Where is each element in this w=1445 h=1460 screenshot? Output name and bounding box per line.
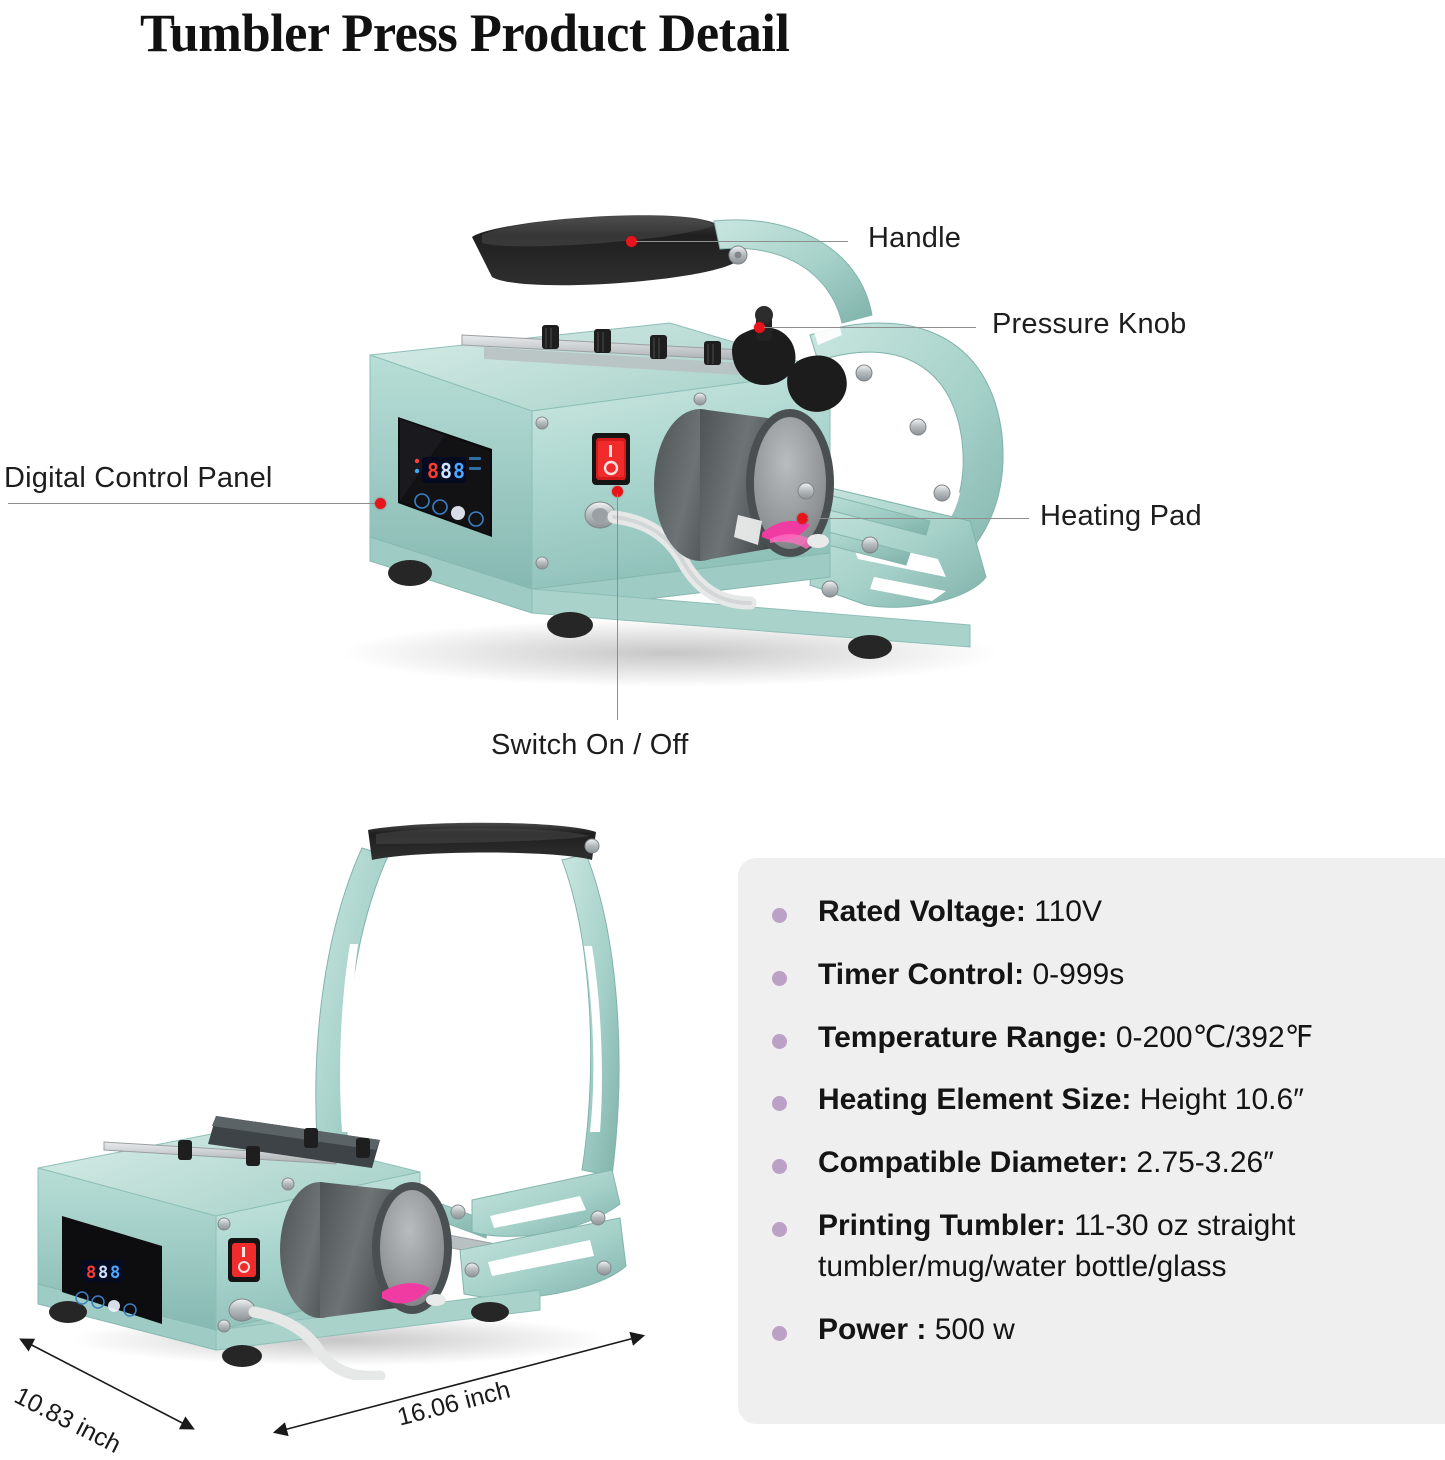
tumbler-press-open-illustration: 8 8 8 xyxy=(20,820,680,1380)
callout-line-digital-panel xyxy=(8,503,378,504)
callout-label-pressure-knob: Pressure Knob xyxy=(992,308,1186,341)
callout-label-heating-pad: Heating Pad xyxy=(1040,500,1202,533)
tumbler-press-closed-illustration: 8 8 8 xyxy=(270,185,1060,695)
spec-value: 0-999s xyxy=(1032,958,1124,991)
specifications-panel: Rated Voltage: 110V Timer Control: 0-999… xyxy=(738,858,1445,1424)
display-digit-2: 8 xyxy=(453,459,465,483)
callout-label-switch: Switch On / Off xyxy=(491,729,688,762)
callout-line-pressure-knob xyxy=(764,327,976,328)
spec-value: 500 w xyxy=(935,1313,1015,1346)
callout-anchor-digital-panel xyxy=(375,498,386,509)
svg-text:8: 8 xyxy=(110,1263,120,1283)
callout-line-heating-pad xyxy=(807,518,1029,519)
display-digit-red: 8 xyxy=(427,459,439,483)
spec-item-rated-voltage: Rated Voltage: 110V xyxy=(772,892,1431,933)
spec-key: Timer Control: xyxy=(818,958,1024,991)
bullet-icon xyxy=(772,1096,787,1111)
spec-key: Temperature Range: xyxy=(818,1021,1108,1054)
page-title: Tumbler Press Product Detail xyxy=(140,2,789,64)
spec-key: Rated Voltage: xyxy=(818,895,1026,928)
spec-key: Compatible Diameter: xyxy=(818,1146,1128,1179)
spec-value: 110V xyxy=(1034,895,1102,928)
spec-value: Height 10.6″ xyxy=(1140,1083,1304,1116)
spec-key: Printing Tumbler: xyxy=(818,1209,1066,1242)
callout-label-digital-panel: Digital Control Panel xyxy=(4,462,273,495)
spec-item-compatible-diameter: Compatible Diameter: 2.75-3.26″ xyxy=(772,1143,1431,1184)
callout-line-switch xyxy=(617,494,618,720)
svg-text:8: 8 xyxy=(86,1263,96,1283)
bullet-icon xyxy=(772,1222,787,1237)
product-detail-page: Tumbler Press Product Detail xyxy=(0,0,1445,1446)
display-digit-1: 8 xyxy=(440,459,452,483)
spec-item-power: Power : 500 w xyxy=(772,1310,1431,1351)
bullet-icon xyxy=(772,1159,787,1174)
svg-text:8: 8 xyxy=(98,1263,108,1283)
spec-key: Power : xyxy=(818,1313,926,1346)
spec-key: Heating Element Size: xyxy=(818,1083,1131,1116)
spec-item-heating-element-size: Heating Element Size: Height 10.6″ xyxy=(772,1080,1431,1121)
bullet-icon xyxy=(772,1034,787,1049)
spec-item-temperature-range: Temperature Range: 0-200℃/392℉ xyxy=(772,1018,1431,1059)
specifications-list: Rated Voltage: 110V Timer Control: 0-999… xyxy=(772,892,1431,1350)
spec-value: 0-200℃/392℉ xyxy=(1116,1021,1313,1054)
spec-item-printing-tumbler: Printing Tumbler: 11-30 oz straight tumb… xyxy=(772,1206,1431,1288)
spec-value: 2.75-3.26″ xyxy=(1136,1146,1273,1179)
bullet-icon xyxy=(772,971,787,986)
callout-line-handle xyxy=(636,241,848,242)
callout-label-handle: Handle xyxy=(868,222,961,255)
bullet-icon xyxy=(772,908,787,923)
bullet-icon xyxy=(772,1326,787,1341)
spec-item-timer-control: Timer Control: 0-999s xyxy=(772,955,1431,996)
